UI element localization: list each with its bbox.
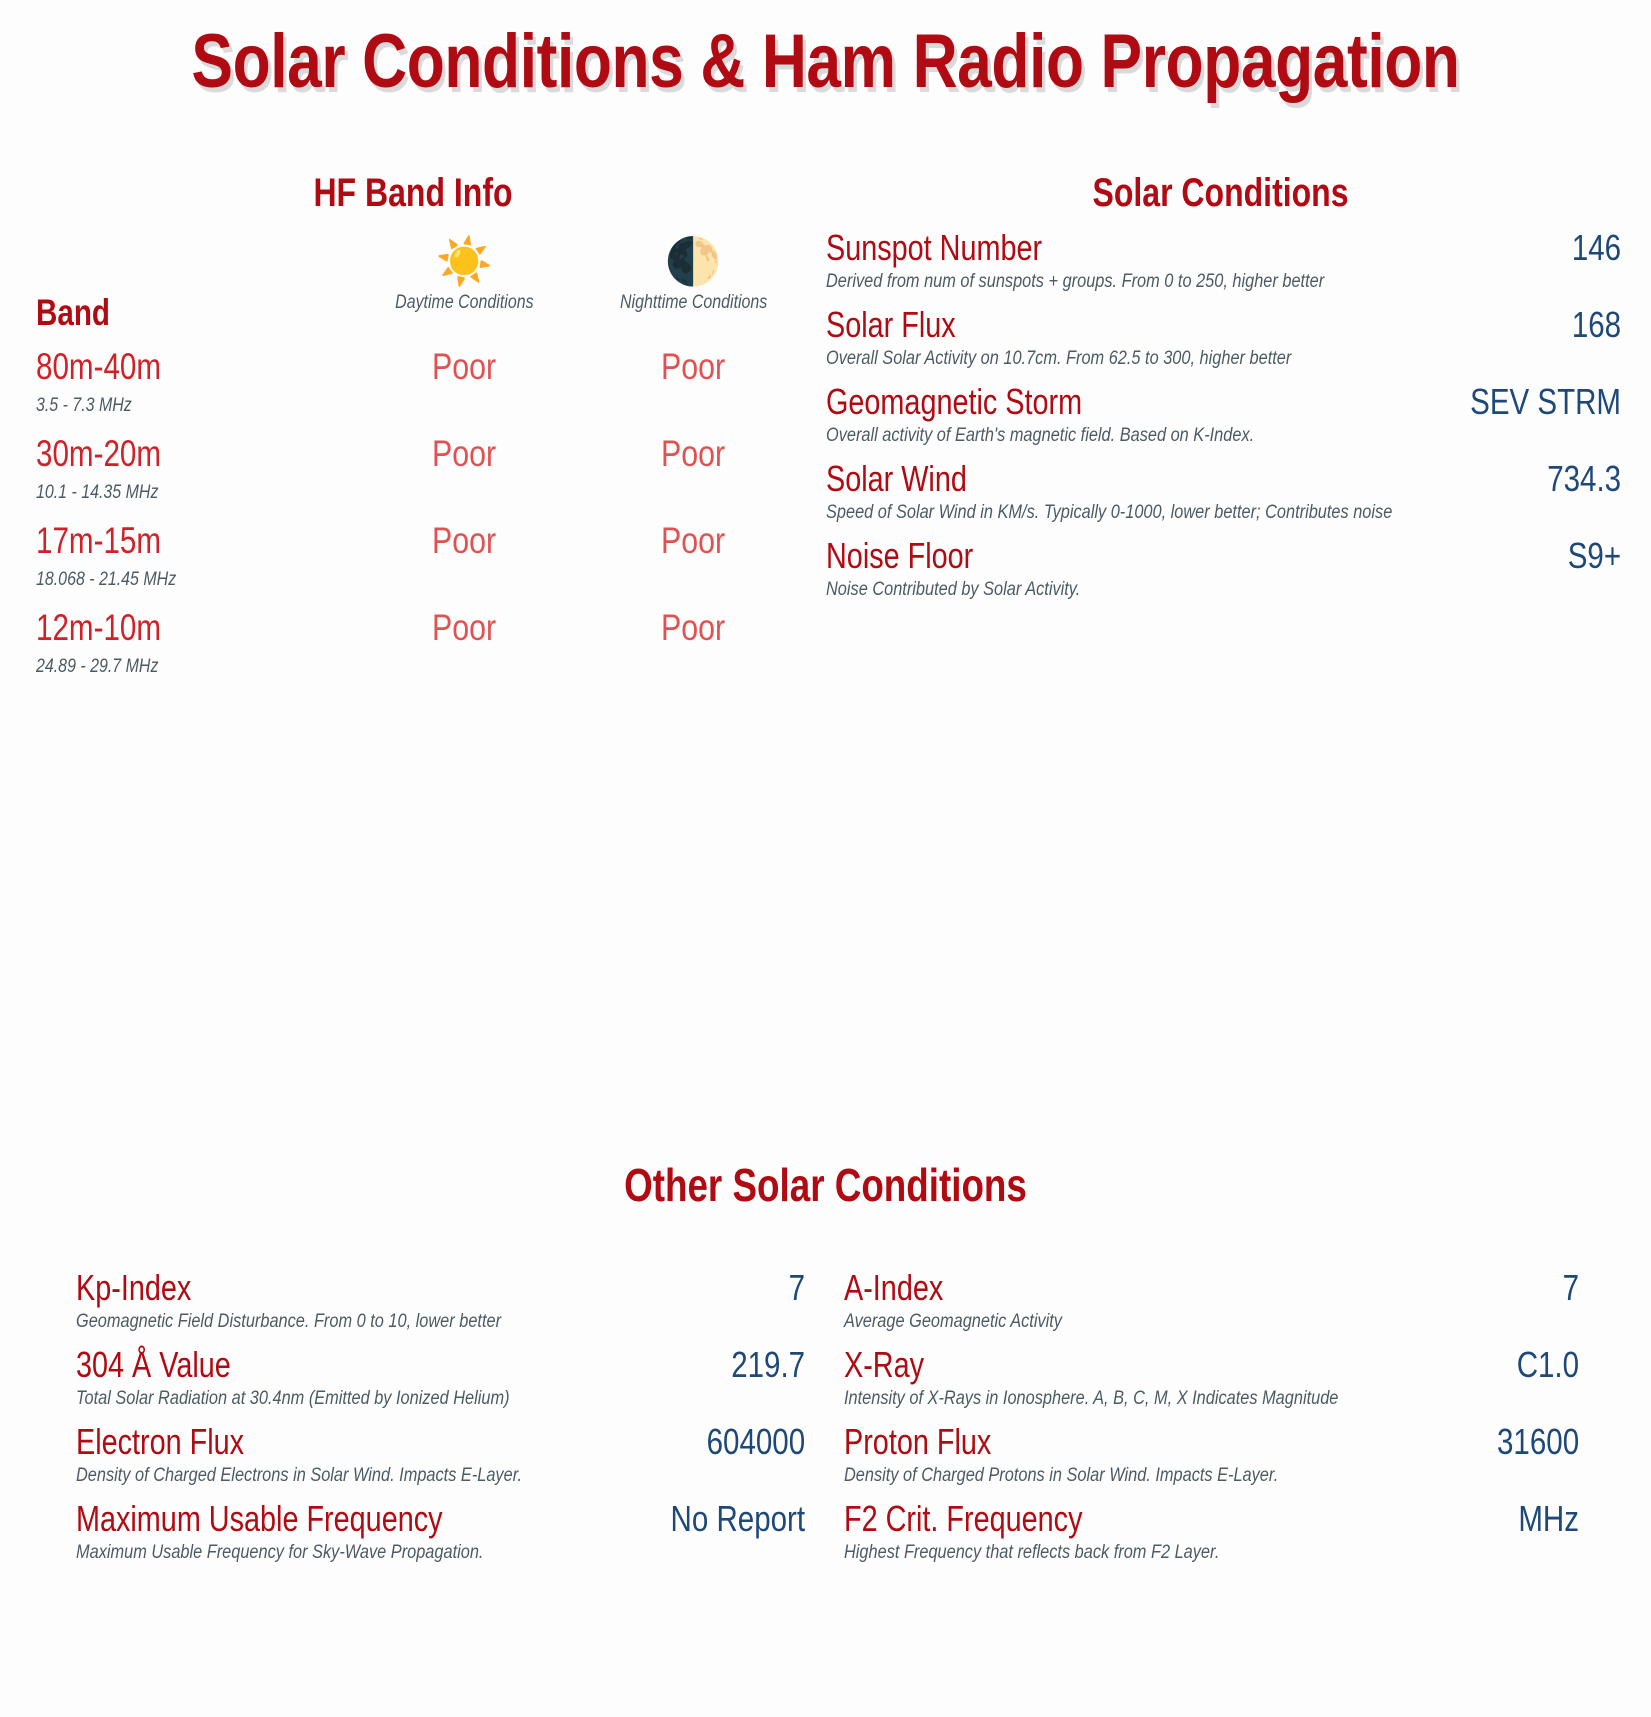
other-solar-conditions-grid: Kp-Index 7 Geomagnetic Field Disturbance…	[0, 1264, 1651, 1572]
metric-description: Speed of Solar Wind in KM/s. Typically 0…	[826, 502, 1510, 524]
band-name: 17m-15m	[36, 520, 287, 562]
list-item: Proton Flux 31600 Density of Charged Pro…	[844, 1418, 1580, 1495]
metric-line: Proton Flux 31600	[844, 1421, 1580, 1463]
metric-description: Derived from num of sunspots + groups. F…	[826, 271, 1510, 293]
moon-cloud-stars-icon: 🌓️	[665, 238, 722, 284]
band-cell: 17m-15m 18.068 - 21.45 MHz	[18, 510, 350, 597]
list-item: Noise Floor S9+ Noise Contributed by Sol…	[826, 532, 1621, 609]
hf-band-header-row: Band Daytime Conditions Nighttime Condit…	[18, 284, 808, 336]
metric-line: X-Ray C1.0	[844, 1344, 1580, 1386]
solar-conditions-panel: Solar Conditions Sunspot Number 146 Deri…	[808, 171, 1633, 684]
metric-line: Kp-Index 7	[76, 1267, 806, 1309]
solar-conditions-list: Sunspot Number 146 Derived from num of s…	[808, 224, 1633, 609]
nighttime-header-cell: Nighttime Conditions	[579, 284, 808, 336]
hf-band-info-panel: HF Band Info ☀️ 🌓️ Band	[18, 171, 808, 684]
list-item: Geomagnetic Storm SEV STRM Overall activ…	[826, 378, 1621, 455]
metric-label: Kp-Index	[76, 1267, 191, 1309]
list-item: Solar Flux 168 Overall Solar Activity on…	[826, 301, 1621, 378]
other-solar-conditions-title: Other Solar Conditions	[165, 1158, 1486, 1212]
metric-value: 219.7	[732, 1344, 806, 1386]
metric-label: X-Ray	[844, 1344, 924, 1386]
metric-value: SEV STRM	[1470, 381, 1621, 423]
metric-line: F2 Crit. Frequency MHz	[844, 1498, 1580, 1540]
daytime-condition-cell: Poor	[350, 510, 579, 597]
list-item: Maximum Usable Frequency No Report Maxim…	[76, 1495, 806, 1572]
list-item: X-Ray C1.0 Intensity of X-Rays in Ionosp…	[844, 1341, 1580, 1418]
metric-label: Maximum Usable Frequency	[76, 1498, 443, 1540]
band-cell: 12m-10m 24.89 - 29.7 MHz	[18, 597, 350, 684]
metric-value: S9+	[1568, 535, 1621, 577]
daytime-condition-cell: Poor	[350, 336, 579, 423]
list-item: 304 Å Value 219.7 Total Solar Radiation …	[76, 1341, 806, 1418]
metric-label: Geomagnetic Storm	[826, 381, 1082, 423]
metric-value: C1.0	[1517, 1344, 1579, 1386]
daytime-condition-value: Poor	[432, 346, 496, 388]
metric-description: Highest Frequency that reflects back fro…	[844, 1542, 1477, 1564]
metric-description: Total Solar Radiation at 30.4nm (Emitted…	[76, 1388, 703, 1410]
daytime-condition-value: Poor	[432, 607, 496, 649]
sun-icon: ☀️	[436, 238, 493, 284]
other-solar-conditions-right-column: A-Index 7 Average Geomagnetic Activity X…	[828, 1264, 1580, 1572]
metric-line: 304 Å Value 219.7	[76, 1344, 806, 1386]
metric-label: Electron Flux	[76, 1421, 244, 1463]
metric-value: 168	[1572, 304, 1621, 346]
daytime-header-cell: Daytime Conditions	[350, 284, 579, 336]
metric-value: 7	[1563, 1267, 1579, 1309]
metric-description: Overall Solar Activity on 10.7cm. From 6…	[826, 348, 1510, 370]
metric-value: MHz	[1518, 1498, 1579, 1540]
metric-description: Overall activity of Earth's magnetic fie…	[826, 425, 1510, 447]
table-row: 80m-40m 3.5 - 7.3 MHz Poor Poor	[18, 336, 808, 423]
nighttime-condition-value: Poor	[661, 346, 725, 388]
metric-line: Solar Flux 168	[826, 304, 1621, 346]
band-frequency-range: 10.1 - 14.35 MHz	[36, 482, 300, 504]
nighttime-condition-value: Poor	[661, 607, 725, 649]
nighttime-icon-cell: 🌓️	[579, 224, 808, 284]
metric-value: No Report	[671, 1498, 806, 1540]
other-solar-conditions-section: Other Solar Conditions Kp-Index 7 Geomag…	[0, 1158, 1651, 1572]
daytime-condition-value: Poor	[432, 433, 496, 475]
metric-value: 734.3	[1547, 458, 1621, 500]
metric-description: Density of Charged Electrons in Solar Wi…	[76, 1465, 703, 1487]
band-name: 80m-40m	[36, 346, 287, 388]
metric-line: Noise Floor S9+	[826, 535, 1621, 577]
metric-label: A-Index	[844, 1267, 943, 1309]
metric-line: A-Index 7	[844, 1267, 1580, 1309]
metric-line: Sunspot Number 146	[826, 227, 1621, 269]
metric-value: 604000	[707, 1421, 806, 1463]
metric-label: F2 Crit. Frequency	[844, 1498, 1082, 1540]
metric-description: Density of Charged Protons in Solar Wind…	[844, 1465, 1477, 1487]
band-cell: 30m-20m 10.1 - 14.35 MHz	[18, 423, 350, 510]
daytime-icon-cell: ☀️	[350, 224, 579, 284]
metric-label: Proton Flux	[844, 1421, 991, 1463]
list-item: Kp-Index 7 Geomagnetic Field Disturbance…	[76, 1264, 806, 1341]
metric-label: Solar Flux	[826, 304, 956, 346]
table-row: 30m-20m 10.1 - 14.35 MHz Poor Poor	[18, 423, 808, 510]
daytime-conditions-header: Daytime Conditions	[395, 292, 533, 314]
band-column-header: Band	[36, 292, 110, 334]
daytime-condition-value: Poor	[432, 520, 496, 562]
table-row: 17m-15m 18.068 - 21.45 MHz Poor Poor	[18, 510, 808, 597]
metric-line: Geomagnetic Storm SEV STRM	[826, 381, 1621, 423]
band-name: 12m-10m	[36, 607, 287, 649]
list-item: Sunspot Number 146 Derived from num of s…	[826, 224, 1621, 301]
nighttime-condition-value: Poor	[661, 433, 725, 475]
nighttime-condition-cell: Poor	[579, 510, 808, 597]
band-column-header-cell: Band	[18, 284, 350, 336]
daytime-condition-cell: Poor	[350, 597, 579, 684]
metric-line: Maximum Usable Frequency No Report	[76, 1498, 806, 1540]
metric-description: Maximum Usable Frequency for Sky-Wave Pr…	[76, 1542, 703, 1564]
hf-band-icon-spacer	[18, 224, 350, 284]
metric-description: Geomagnetic Field Disturbance. From 0 to…	[76, 1311, 703, 1333]
solar-conditions-title: Solar Conditions	[891, 171, 1551, 216]
metric-value: 7	[789, 1267, 805, 1309]
metric-label: Noise Floor	[826, 535, 973, 577]
metric-label: Solar Wind	[826, 458, 967, 500]
top-panels: HF Band Info ☀️ 🌓️ Band	[0, 171, 1651, 684]
nighttime-conditions-header: Nighttime Conditions	[620, 292, 767, 314]
page-title: Solar Conditions & Ham Radio Propagation	[149, 18, 1503, 105]
nighttime-condition-cell: Poor	[579, 597, 808, 684]
daytime-condition-cell: Poor	[350, 423, 579, 510]
other-solar-conditions-left-column: Kp-Index 7 Geomagnetic Field Disturbance…	[76, 1264, 828, 1572]
metric-description: Average Geomagnetic Activity	[844, 1311, 1477, 1333]
metric-label: 304 Å Value	[76, 1344, 231, 1386]
list-item: Electron Flux 604000 Density of Charged …	[76, 1418, 806, 1495]
table-row: 12m-10m 24.89 - 29.7 MHz Poor Poor	[18, 597, 808, 684]
metric-line: Solar Wind 734.3	[826, 458, 1621, 500]
band-frequency-range: 3.5 - 7.3 MHz	[36, 395, 300, 417]
band-frequency-range: 24.89 - 29.7 MHz	[36, 656, 300, 678]
list-item: F2 Crit. Frequency MHz Highest Frequency…	[844, 1495, 1580, 1572]
metric-value: 31600	[1497, 1421, 1579, 1463]
hf-band-info-title: HF Band Info	[97, 171, 729, 216]
metric-description: Intensity of X-Rays in Ionosphere. A, B,…	[844, 1388, 1477, 1410]
list-item: A-Index 7 Average Geomagnetic Activity	[844, 1264, 1580, 1341]
metric-description: Noise Contributed by Solar Activity.	[826, 579, 1510, 601]
nighttime-condition-value: Poor	[661, 520, 725, 562]
nighttime-condition-cell: Poor	[579, 336, 808, 423]
nighttime-condition-cell: Poor	[579, 423, 808, 510]
metric-label: Sunspot Number	[826, 227, 1042, 269]
metric-line: Electron Flux 604000	[76, 1421, 806, 1463]
band-frequency-range: 18.068 - 21.45 MHz	[36, 569, 300, 591]
band-cell: 80m-40m 3.5 - 7.3 MHz	[18, 336, 350, 423]
list-item: Solar Wind 734.3 Speed of Solar Wind in …	[826, 455, 1621, 532]
hf-band-table: ☀️ 🌓️ Band Daytime Conditions Nighttime …	[18, 224, 808, 684]
band-name: 30m-20m	[36, 433, 287, 475]
metric-value: 146	[1572, 227, 1621, 269]
hf-band-icon-row: ☀️ 🌓️	[18, 224, 808, 284]
